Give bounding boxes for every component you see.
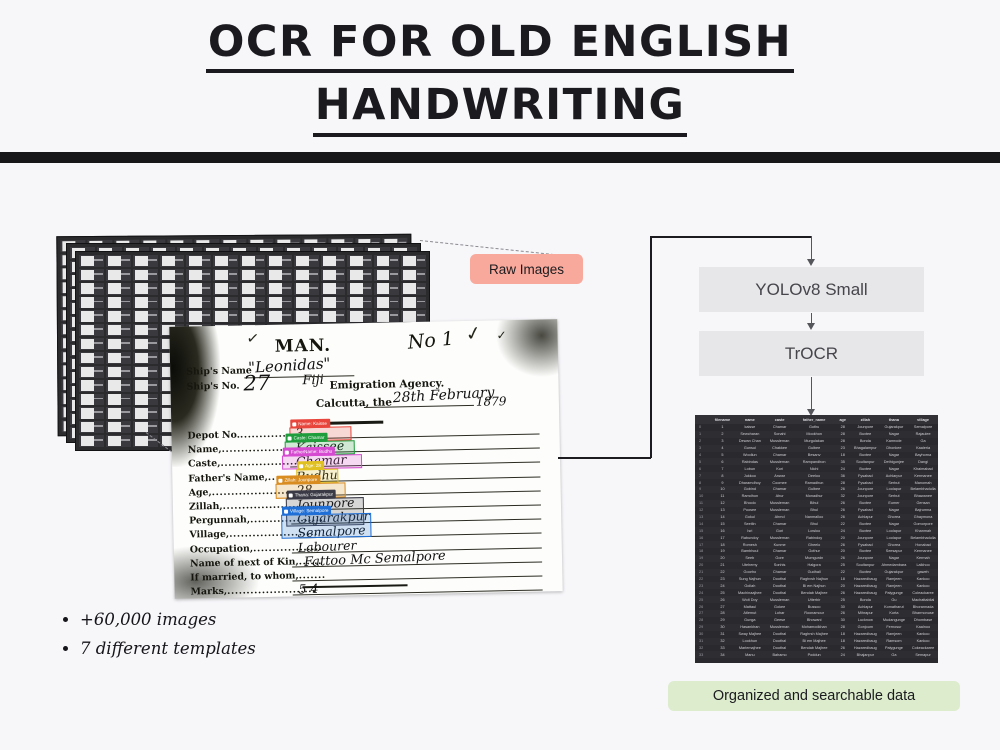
raw-image-thumbnail	[374, 269, 399, 281]
table-cell: Gokee	[765, 605, 794, 609]
table-row[interactable]: 2223Sung NajhunDoothalRaghvsh Najhun18Ha…	[695, 576, 938, 583]
table-cell: Halgora	[794, 563, 834, 567]
raw-image-thumbnail	[79, 297, 104, 309]
table-cell: 31	[711, 632, 735, 636]
table-cell: Chamar	[765, 522, 794, 526]
table-cell: Buxtee	[851, 570, 880, 574]
table-cell: 36	[834, 474, 851, 478]
table-cell: 28	[834, 432, 851, 436]
table-cell: Geese	[765, 618, 794, 622]
table-cell: Woollun	[734, 453, 765, 457]
table-cell: Ahmd	[765, 515, 794, 519]
bullet-item: 7 different templates	[80, 635, 256, 664]
raw-image-thumbnail	[240, 310, 265, 322]
table-cell: Fysabad	[851, 543, 880, 547]
table-cell: Fysabad	[851, 508, 880, 512]
table-cell: Chamar	[765, 570, 794, 574]
table-cell: Mookhon	[794, 432, 834, 436]
table-cell: Serbut	[880, 494, 909, 498]
table-cell: Kamrode	[880, 439, 909, 443]
arrowhead-yolo	[807, 259, 815, 266]
table-cell: 10	[711, 487, 735, 491]
pipeline-step-trocr[interactable]: TrOCR	[699, 331, 924, 376]
table-cell: Palygunge	[880, 591, 909, 595]
raw-image-thumbnail	[374, 283, 399, 295]
table-cell: 20	[834, 584, 851, 588]
table-cell: Ramjeen	[880, 584, 909, 588]
table-cell: Belambhadulla	[908, 536, 938, 540]
doc-field-rule	[292, 575, 542, 581]
table-cell: 24	[695, 591, 711, 595]
table-cell: Ghaymona	[908, 515, 938, 519]
raw-image-thumbnail	[401, 269, 426, 281]
raw-image-thumbnail	[106, 394, 131, 406]
raw-image-thumbnail	[160, 269, 185, 281]
table-row[interactable]: 3334ManuBahamoPoddun24BhajanpurGaSemapur	[695, 651, 938, 658]
table-cell: 22	[834, 522, 851, 526]
raw-image-thumbnail	[240, 283, 265, 295]
table-cell: Hazaredbaug	[851, 584, 880, 588]
raw-image-thumbnail	[186, 283, 211, 295]
table-cell: Bihul	[794, 501, 834, 505]
table-cell: 21	[695, 570, 711, 574]
table-cell: Gujarakpur	[880, 570, 909, 574]
table-cell: 19	[711, 549, 735, 553]
table-cell: Chamar	[765, 487, 794, 491]
annotation-tag: Zillah: Jounpore	[276, 475, 320, 485]
table-cell: 5	[711, 453, 735, 457]
raw-image-thumbnail	[106, 324, 131, 336]
table-cell: Ga	[908, 439, 938, 443]
table-row[interactable]: 1011RamdhonAhurMonadhur32JounporeSerbutB…	[695, 493, 938, 500]
output-data-table[interactable]: filenamenamecastefather_nameagezillahtha…	[695, 415, 938, 663]
table-cell: Hazaredbaug	[851, 639, 880, 643]
raw-image-thumbnail	[347, 297, 372, 309]
raw-image-thumbnail	[133, 366, 158, 378]
table-cell: 6	[711, 460, 735, 464]
table-cell: Bonda	[851, 598, 880, 602]
raw-image-thumbnail	[160, 310, 185, 322]
table-row[interactable]: 2526Wolt DoyMusslemanUtterbir25BondaGuMa…	[695, 596, 938, 603]
table-cell: 34	[711, 653, 735, 657]
table-cell: 17	[711, 536, 735, 540]
table-cell: Nagar	[880, 467, 909, 471]
table-cell: Gunga	[734, 618, 765, 622]
table-row[interactable]: 1718RomeshKunmeGheelo26FysabadGhoreaHona…	[695, 541, 938, 548]
raw-image-thumbnail	[133, 324, 158, 336]
table-row[interactable]: 910GobindChamarGulbee26JounporeLoolapurB…	[695, 486, 938, 493]
table-cell: 1	[711, 425, 735, 429]
table-cell: Gonjoum	[851, 625, 880, 629]
raw-image-thumbnail	[106, 283, 131, 295]
annotation-tag: Caste: Chamar	[285, 433, 327, 443]
raw-image-thumbnail	[79, 255, 104, 267]
table-cell: Machinaajhee	[734, 591, 765, 595]
table-row[interactable]: 1920SeebGoreMumgurdn26JounporeNagarKerma…	[695, 555, 938, 562]
table-row[interactable]: 2122GoorhoChamarGudhall22BuxteeGujarakpu…	[695, 569, 938, 576]
raw-image-thumbnail	[106, 352, 131, 364]
table-cell: 19	[695, 556, 711, 560]
table-column-header: thana	[880, 418, 909, 422]
table-cell: 14	[695, 522, 711, 526]
table-row[interactable]: 3132LookhunDoothalBi em Majhee18Hazaredb…	[695, 638, 938, 645]
table-cell: 21	[711, 563, 735, 567]
table-row[interactable]: 56RabindasMusslemanRampandhon35Soultanpu…	[695, 458, 938, 465]
raw-image-thumbnail	[106, 310, 131, 322]
table-cell: Raghrsh Majhee	[794, 632, 834, 636]
table-cell: Hazaredbaug	[851, 591, 880, 595]
table-cell: 15	[695, 529, 711, 533]
table-cell: 28	[695, 618, 711, 622]
table-cell: Dewan Chan	[734, 439, 765, 443]
table-cell: Sway Majhee	[734, 632, 765, 636]
table-row[interactable]: 3031Sway MajheeDoothalRaghrsh Majhee18Ha…	[695, 631, 938, 638]
table-row[interactable]: 45WoollunChamarBesanv18BuxteeNagarBayhor…	[695, 452, 938, 459]
table-cell: Korta	[880, 611, 909, 615]
raw-image-thumbnail	[133, 283, 158, 295]
table-cell: 26	[834, 515, 851, 519]
table-cell: Buxtee	[851, 467, 880, 471]
table-cell: Buxtee	[851, 522, 880, 526]
raw-image-thumbnail	[79, 366, 104, 378]
raw-image-thumbnail	[374, 297, 399, 309]
table-cell: Kaalnoo	[908, 625, 938, 629]
pipeline-step-yolov8[interactable]: YOLOv8 Small	[699, 267, 924, 312]
table-cell: 26	[834, 543, 851, 547]
raw-image-thumbnail	[79, 407, 104, 419]
table-row[interactable]: 2021UtehemySonhisHalgora25SoultanpurAhme…	[695, 562, 938, 569]
raw-image-thumbnail	[79, 421, 104, 433]
annotation-tag: Village: Semalpore	[282, 506, 332, 516]
raw-image-thumbnail	[321, 283, 346, 295]
table-cell: Mussleman	[765, 625, 794, 629]
table-cell: Gomorpore	[908, 522, 938, 526]
table-row[interactable]: 67LobunKoriNichi24BuxteeNagarKhaimabad	[695, 465, 938, 472]
table-cell: Manomah	[908, 481, 938, 485]
table-cell: 9	[711, 481, 735, 485]
raw-image-thumbnail	[79, 394, 104, 406]
table-cell: Utehemy	[734, 563, 765, 567]
table-cell: Buxtee	[851, 453, 880, 457]
table-row[interactable]: 2627MattaulGokeeBussoo30AchlapurKomathar…	[695, 603, 938, 610]
table-cell: Dangi	[908, 460, 938, 464]
table-cell: 32	[711, 639, 735, 643]
table-cell: Nichi	[794, 467, 834, 471]
table-row[interactable]: 3233MarlemajheeDoothalBendab Majhee26Haz…	[695, 645, 938, 652]
table-cell: Romesh	[734, 543, 765, 547]
table-cell: 26	[834, 611, 851, 615]
raw-images-label: Raw Images	[470, 254, 583, 284]
raw-image-thumbnail	[106, 421, 131, 433]
table-cell: 31	[695, 639, 711, 643]
table-row[interactable]: 1819BambhoulChamarGothur20BuxteeSeesapur…	[695, 548, 938, 555]
connector-trocr-to-table	[811, 377, 812, 412]
table-cell: Seesapur	[880, 549, 909, 553]
table-cell: Sonahi	[765, 432, 794, 436]
table-cell: 24	[834, 467, 851, 471]
table-cell: Jounpore	[851, 494, 880, 498]
table-cell: Bendab Majhee	[794, 646, 834, 650]
table-cell: Ramjeen	[880, 632, 909, 636]
table-cell: Semapur	[908, 653, 938, 657]
table-column-header: name	[734, 418, 765, 422]
doc-ship-no-label: Ship's No.	[186, 381, 239, 393]
table-cell: 12	[711, 501, 735, 505]
table-row[interactable]: 1617RabundoyMusslemanRabindoy20JounporeL…	[695, 534, 938, 541]
table-cell: Gulbee	[794, 487, 834, 491]
table-cell: 18	[834, 453, 851, 457]
table-cell: Wolt Doy	[734, 598, 765, 602]
table-row[interactable]: 2728AtlemutLoharRoonamour26MihrapurKorta…	[695, 610, 938, 617]
doc-field-label: Marks,.......................	[191, 584, 317, 598]
table-row[interactable]: 2829GungaGeeseBhowani30LucknowMudangunge…	[695, 617, 938, 624]
table-cell: Kermanee	[908, 549, 938, 553]
raw-image-thumbnail	[321, 269, 346, 281]
table-cell: Coomee	[765, 481, 794, 485]
raw-image-thumbnail	[133, 352, 158, 364]
table-cell: Buxtee	[851, 432, 880, 436]
table-cell: Kankoo	[908, 584, 938, 588]
raw-image-thumbnail	[213, 297, 238, 309]
raw-image-thumbnail	[401, 255, 426, 267]
table-cell: Chamar	[765, 425, 794, 429]
table-cell: Mussleman	[765, 501, 794, 505]
table-cell: 28	[834, 481, 851, 485]
table-cell: 30	[834, 618, 851, 622]
raw-image-thumbnail	[321, 310, 346, 322]
table-cell: 29	[711, 618, 735, 622]
table-cell: 24	[834, 529, 851, 533]
table-cell: 20	[834, 536, 851, 540]
table-cell: Jounpore	[851, 536, 880, 540]
table-cell: Bajrumna	[908, 508, 938, 512]
table-row[interactable]: 1516IsriGoriLowloo24BuxteeLoolapurKhanma…	[695, 527, 938, 534]
raw-image-thumbnail	[160, 297, 185, 309]
table-row[interactable]: 2324GollahDoothalBi em Najhun20Hazaredba…	[695, 582, 938, 589]
raw-image-thumbnail	[133, 269, 158, 281]
table-cell: Kori	[765, 467, 794, 471]
checkbox-icon	[288, 436, 292, 440]
table-cell: Ghorea	[880, 515, 909, 519]
table-cell: 20	[695, 563, 711, 567]
table-row[interactable]: 2930HasankhanMusslemanMohamodkhan28Gonjo…	[695, 624, 938, 631]
raw-image-thumbnail	[213, 283, 238, 295]
table-cell: Seetlin	[734, 522, 765, 526]
table-cell: Khanmah	[908, 529, 938, 533]
doc-field-value: 5 4	[298, 581, 319, 597]
raw-image-thumbnail	[106, 297, 131, 309]
table-cell: 27	[711, 605, 735, 609]
table-cell: Lucknow	[851, 618, 880, 622]
table-cell: Semalpore	[908, 425, 938, 429]
table-cell: Kankoo	[908, 639, 938, 643]
table-cell: Utterbir	[794, 598, 834, 602]
connector-horizontal-from-doc	[558, 457, 651, 459]
table-cell: Anwar	[765, 474, 794, 478]
raw-image-thumbnail	[347, 283, 372, 295]
table-cell: Kermanee	[908, 474, 938, 478]
table-row[interactable]: 1213PooseeMusslemanBhul26FysabadNagarBaj…	[695, 507, 938, 514]
table-cell: 4	[695, 453, 711, 457]
table-cell: Seeb	[734, 556, 765, 560]
raw-image-thumbnail	[106, 407, 131, 419]
table-cell: 18	[834, 577, 851, 581]
table-cell: 28	[834, 425, 851, 429]
checkbox-icon	[289, 493, 293, 497]
table-cell: Machattabilal	[908, 598, 938, 602]
annotation-tag: Thana: Gujarakpur	[287, 490, 336, 500]
table-cell: 16	[711, 529, 735, 533]
table-cell: Buxtee	[851, 549, 880, 553]
table-cell: Buxtee	[851, 529, 880, 533]
table-cell: 22	[834, 570, 851, 574]
table-cell: Achlarpur	[880, 474, 909, 478]
table-cell: Fernosur	[880, 625, 909, 629]
table-cell: 26	[834, 591, 851, 595]
table-cell: Mussleman	[765, 460, 794, 464]
table-cell: Mussleman	[765, 439, 794, 443]
raw-image-thumbnail	[186, 297, 211, 309]
raw-image-thumbnail	[294, 297, 319, 309]
checkbox-icon	[299, 464, 303, 468]
table-cell: Bendab Majhee	[794, 591, 834, 595]
table-cell: Gunsul	[734, 446, 765, 450]
table-cell: Jounpore	[851, 487, 880, 491]
table-cell: Jukkoo	[734, 474, 765, 478]
doc-tick-1: ✓	[246, 329, 261, 348]
raw-image-thumbnail	[401, 310, 426, 322]
table-cell: Ga	[880, 653, 909, 657]
slide-canvas: OCR for Old English Handwriting ✓ ✓ ✓ MA…	[0, 0, 1000, 750]
table-cell: Soultanpur	[851, 460, 880, 464]
table-cell: Ramdhon	[734, 494, 765, 498]
table-cell: Bi em Majhee	[794, 639, 834, 643]
table-cell: 28	[711, 611, 735, 615]
table-cell: Fysabad	[851, 481, 880, 485]
table-cell: Gothur	[794, 549, 834, 553]
annotation-tag: Name: Kaisse	[290, 419, 330, 429]
table-cell: Mihrapur	[851, 611, 880, 615]
table-cell: 2	[711, 432, 735, 436]
table-row[interactable]: 1112BhooloMusslemanBihul26BuxteeEumerGen…	[695, 500, 938, 507]
table-row[interactable]: 23Dewan ChanMusslemanMurgulakan28BondaKa…	[695, 438, 938, 445]
table-cell: 26	[834, 646, 851, 650]
table-cell: 6	[695, 467, 711, 471]
table-row[interactable]: 89DharamdhoyCoomeeRamadhun28FysabadSerbu…	[695, 479, 938, 486]
table-cell: Ahur	[765, 494, 794, 498]
table-cell: 20	[834, 549, 851, 553]
table-cell: 3	[695, 446, 711, 450]
table-cell: Gulbee	[794, 446, 834, 450]
table-row[interactable]: 1415SeetlinChamarBhul22BuxteeNagarGomorp…	[695, 520, 938, 527]
raw-image-thumbnail	[79, 310, 104, 322]
table-row[interactable]: 34GunsulChakkeeGulbee23BhagalampurDhonke…	[695, 445, 938, 452]
raw-image-thumbnail	[106, 255, 131, 267]
raw-image-thumbnail	[213, 255, 238, 267]
table-cell: Raghvsh Najhun	[794, 577, 834, 581]
table-cell: Gensan	[908, 501, 938, 505]
table-cell: Gollah	[734, 584, 765, 588]
table-cell: Doothal	[765, 591, 794, 595]
table-cell: Goorho	[734, 570, 765, 574]
raw-image-thumbnail	[294, 269, 319, 281]
table-cell: 29	[695, 625, 711, 629]
table-row[interactable]: 2425MachinaajheeDoothalBendab Majhee26Ha…	[695, 589, 938, 596]
table-cell: Komatharut	[880, 605, 909, 609]
table-cell: 5	[695, 460, 711, 464]
table-cell: 12	[695, 508, 711, 512]
table-cell: Cokeackaree	[908, 646, 938, 650]
table-row[interactable]: 01kaisseChamarGothu28JounporeGujarakpurS…	[695, 424, 938, 431]
table-row[interactable]: 78JukkooAnwarDeeloo36FysabadAchlarpurKer…	[695, 472, 938, 479]
table-cell: Ramadhun	[794, 481, 834, 485]
table-cell: Kankoo	[908, 632, 938, 636]
table-cell: 4	[711, 446, 735, 450]
raw-image-thumbnail	[133, 394, 158, 406]
table-cell: Bhajanpur	[851, 653, 880, 657]
raw-image-thumbnail	[186, 269, 211, 281]
table-cell: Khaimabad	[908, 467, 938, 471]
table-cell: Mussleman	[765, 508, 794, 512]
table-cell: Bharmonuse	[908, 611, 938, 615]
table-cell: Doothal	[765, 646, 794, 650]
annotation-tag: Age: 28	[297, 461, 324, 471]
document-number: No 1	[407, 328, 455, 354]
table-row[interactable]: 1314GokulAhmdNanmalloo26AchlapurGhoreaGh…	[695, 514, 938, 521]
table-column-header: village	[908, 418, 938, 422]
table-cell: Ahmedambara	[880, 563, 909, 567]
table-cell: 18	[834, 632, 851, 636]
table-cell: Nagar	[880, 453, 909, 457]
table-cell: 18	[834, 639, 851, 643]
raw-image-thumbnail	[186, 310, 211, 322]
table-cell: Besanv	[794, 453, 834, 457]
table-cell: 25	[711, 591, 735, 595]
table-cell: Nagar	[880, 556, 909, 560]
table-cell: Fysabad	[851, 474, 880, 478]
table-cell: 26	[834, 556, 851, 560]
table-cell: Serbut	[880, 481, 909, 485]
annotation-bbox[interactable]: Village: Semalpore	[281, 513, 371, 539]
raw-image-thumbnail	[106, 435, 131, 447]
table-cell: Nagar	[880, 508, 909, 512]
raw-image-thumbnail	[374, 255, 399, 267]
table-cell: 23	[711, 577, 735, 581]
table-row[interactable]: 12SewcharanSonahiMookhon28BuxteeNagarRaj…	[695, 431, 938, 438]
doc-year: 1879	[476, 394, 507, 409]
raw-image-thumbnail	[294, 283, 319, 295]
doc-field-label: Name of next of Kin,......	[190, 556, 322, 570]
table-cell: 7	[695, 474, 711, 478]
table-cell: 10	[695, 494, 711, 498]
table-cell: 30	[711, 625, 735, 629]
table-cell: Bussoo	[794, 605, 834, 609]
raw-image-thumbnail	[267, 269, 292, 281]
table-body: 01kaisseChamarGothu28JounporeGujarakpurS…	[695, 424, 938, 658]
raw-image-thumbnail	[321, 255, 346, 267]
table-cell: Nanmalloo	[794, 515, 834, 519]
table-cell: 8	[711, 474, 735, 478]
table-cell: Achlapur	[851, 605, 880, 609]
table-cell: 23	[834, 446, 851, 450]
table-cell: Nagar	[880, 432, 909, 436]
table-cell: Gokul	[734, 515, 765, 519]
bullet-item: +60,000 images	[80, 606, 256, 635]
table-cell: 11	[695, 501, 711, 505]
table-cell: Rajaulee	[908, 432, 938, 436]
title-line-1: OCR for Old English	[206, 16, 794, 73]
raw-image-thumbnail	[79, 352, 104, 364]
